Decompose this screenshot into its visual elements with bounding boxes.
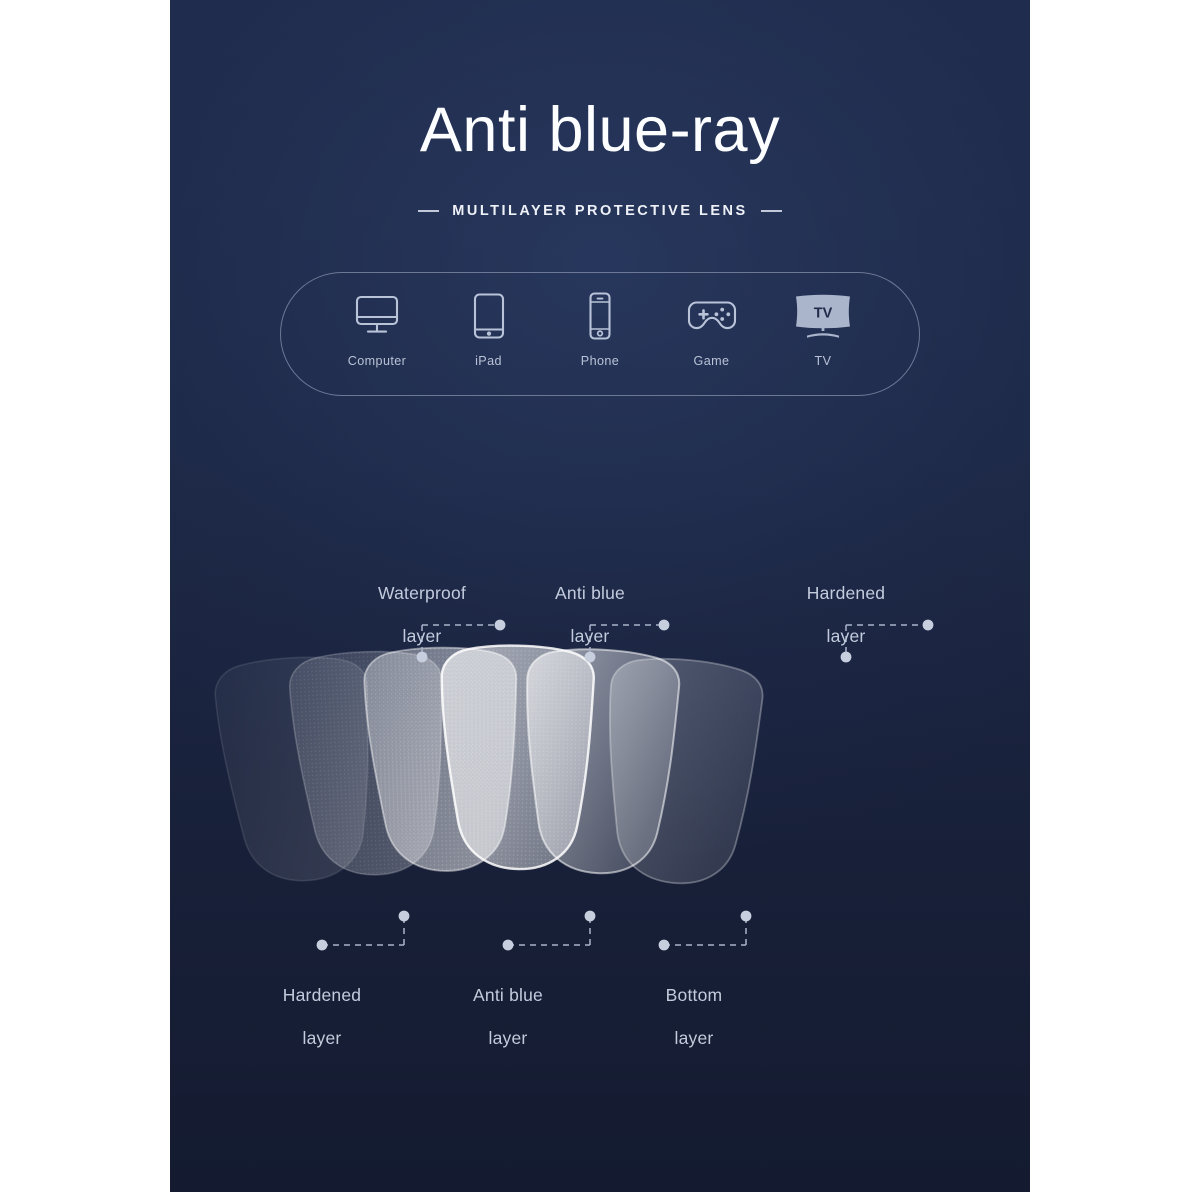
callout-line-1: Waterproof [342, 583, 502, 604]
callout-bottom-bottom: Bottom layer [614, 964, 774, 1071]
device-item-game[interactable]: Game [660, 291, 764, 368]
page-subtitle: MULTILAYER PROTECTIVE LENS [452, 203, 747, 219]
callout-top-hardened: Hardened layer [766, 562, 926, 669]
tablet-icon [469, 291, 509, 341]
gamepad-icon [684, 291, 740, 341]
callout-line-1: Hardened [766, 583, 926, 604]
device-item-tv[interactable]: TV TV [771, 291, 875, 368]
callout-line-1: Anti blue [428, 985, 588, 1006]
poster-panel: Anti blue-ray MULTILAYER PROTECTIVE LENS [170, 0, 1030, 1192]
device-item-computer[interactable]: Computer [325, 291, 429, 368]
callout-line-2: layer [342, 626, 502, 647]
device-label: Game [694, 354, 730, 368]
callout-top-anti-blue: Anti blue layer [510, 562, 670, 669]
dash-left-icon [418, 210, 439, 212]
device-label: Phone [581, 354, 619, 368]
dash-right-icon [761, 210, 782, 212]
callout-bottom-anti-blue: Anti blue layer [428, 964, 588, 1071]
callout-top-waterproof: Waterproof layer [342, 562, 502, 669]
callout-line-2: layer [766, 626, 926, 647]
monitor-icon [352, 291, 402, 341]
callout-line-2: layer [242, 1028, 402, 1049]
callout-line-1: Anti blue [510, 583, 670, 604]
device-item-ipad[interactable]: iPad [437, 291, 541, 368]
callout-line-1: Hardened [242, 985, 402, 1006]
poster-page: Anti blue-ray MULTILAYER PROTECTIVE LENS [0, 0, 1200, 1200]
callout-line-2: layer [428, 1028, 588, 1049]
smartphone-icon [584, 291, 616, 341]
callout-line-2: layer [614, 1028, 774, 1049]
callout-line-2: layer [510, 626, 670, 647]
device-compatibility-pill: Computer iPad [280, 272, 920, 396]
callout-bottom-hardened: Hardened layer [242, 964, 402, 1071]
device-item-phone[interactable]: Phone [548, 291, 652, 368]
device-label: TV [815, 354, 832, 368]
device-label: Computer [348, 354, 407, 368]
lens-layer-stack [170, 630, 1030, 930]
subtitle-row: MULTILAYER PROTECTIVE LENS [170, 203, 1030, 219]
device-label: iPad [475, 354, 502, 368]
page-title: Anti blue-ray [170, 96, 1030, 164]
tv-icon: TV [792, 291, 854, 341]
heading-block: Anti blue-ray MULTILAYER PROTECTIVE LENS [170, 96, 1030, 219]
tv-screen-text: TV [814, 305, 833, 321]
callout-line-1: Bottom [614, 985, 774, 1006]
